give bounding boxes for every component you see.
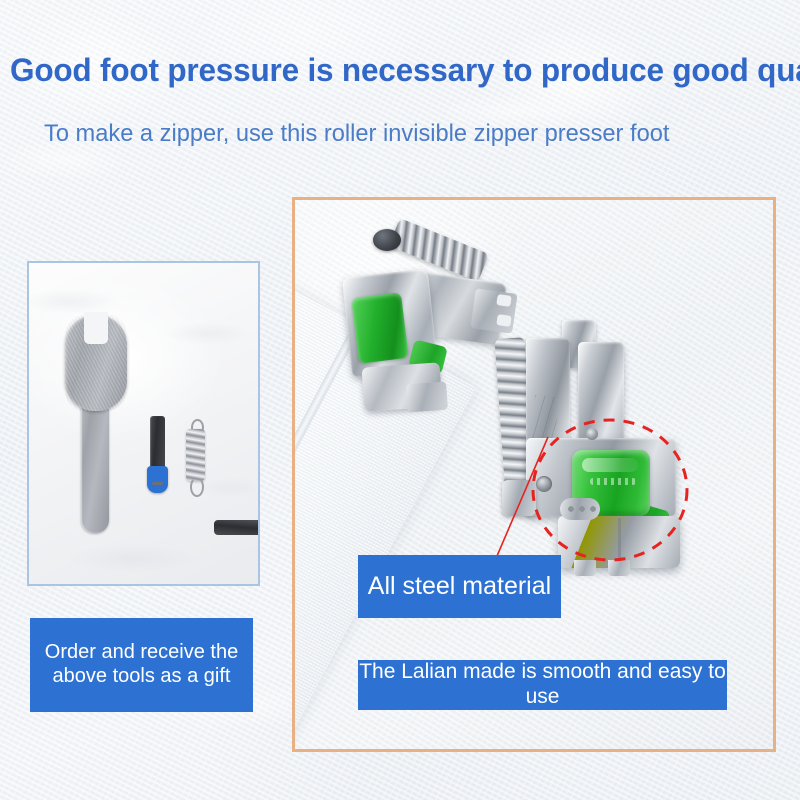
allen-hex-key-icon — [214, 363, 260, 535]
front-foot-screw-hole — [536, 476, 552, 492]
roller-marking — [590, 478, 636, 485]
rear-foot-toe — [406, 382, 448, 413]
bolt-head — [147, 466, 168, 493]
rear-foot-notch-upper — [496, 294, 511, 307]
front-foot-spring-base — [502, 480, 536, 516]
product-marketing-banner: Good foot pressure is necessary to produ… — [0, 0, 800, 800]
front-foot-sole-notch-left — [574, 560, 596, 576]
front-foot-sole-notch-right — [608, 560, 630, 576]
page-title: Good foot pressure is necessary to produ… — [10, 54, 784, 86]
wrench-handle — [81, 397, 109, 533]
wrench-jaw-opening — [84, 312, 108, 344]
tools-gift-caption: Order and receive the above tools as a g… — [30, 618, 253, 712]
tension-spring-icon — [183, 419, 207, 497]
rear-foot-green-roller — [351, 292, 409, 364]
front-foot-shank — [578, 342, 624, 450]
open-end-wrench-icon — [65, 315, 127, 533]
page-subtitle: To make a zipper, use this roller invisi… — [44, 122, 773, 146]
front-foot-sole-split — [618, 518, 621, 566]
all-steel-material-caption: All steel material — [358, 555, 561, 618]
bolt-slot — [152, 482, 163, 485]
roller-highlight — [582, 458, 638, 472]
roller-hub-rivets — [566, 504, 596, 514]
spring-bottom-hook — [190, 477, 204, 497]
lalian-smooth-caption: The Lalian made is smooth and easy to us… — [358, 660, 727, 710]
front-foot-upper-screw-hole — [586, 428, 598, 440]
rear-foot-screw-head — [373, 229, 401, 251]
tools-photo-panel — [27, 261, 260, 586]
bolt-shaft — [150, 416, 165, 472]
screw-bolt-icon — [147, 416, 168, 493]
allen-short-arm — [214, 520, 260, 535]
spring-coil — [186, 429, 205, 481]
